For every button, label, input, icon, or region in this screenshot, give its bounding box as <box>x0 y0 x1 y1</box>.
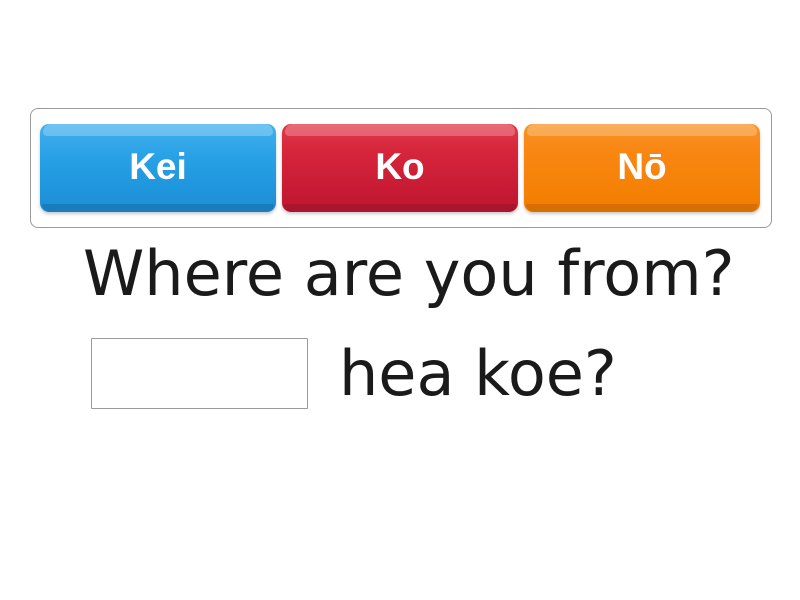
answer-line: hea koe? <box>91 338 617 409</box>
word-tile-ko-label: Ko <box>375 148 424 185</box>
word-bank-container: Kei Ko Nō <box>30 108 772 228</box>
answer-suffix-text: hea koe? <box>339 343 617 405</box>
answer-drop-slot[interactable] <box>91 338 308 409</box>
word-tile-kei-label: Kei <box>129 148 187 185</box>
word-tile-ko[interactable]: Ko <box>282 124 518 212</box>
word-tile-kei[interactable]: Kei <box>40 124 276 212</box>
question-translation-text: Where are you from? <box>83 243 735 305</box>
word-tile-no-label: Nō <box>617 148 666 185</box>
word-tile-no[interactable]: Nō <box>524 124 760 212</box>
